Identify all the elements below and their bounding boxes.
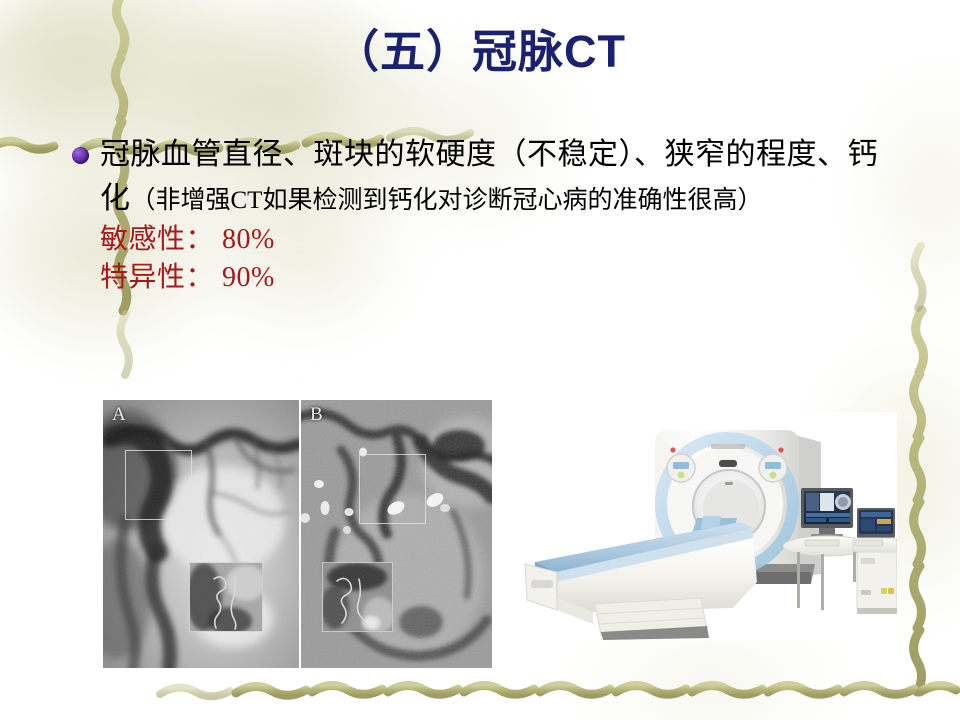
figure-panel-b: B xyxy=(301,400,492,668)
body-content: 冠脉血管直径、斑块的软硬度（不稳定）、狭窄的程度、钙化（非增强CT如果检测到钙化… xyxy=(72,133,892,298)
stat-specificity-label: 特异性： xyxy=(100,262,214,293)
stat-specificity: 特异性：90% xyxy=(100,259,892,298)
magnified-inset-b xyxy=(322,562,393,632)
roi-box-a xyxy=(125,450,192,520)
panel-label-a: A xyxy=(112,404,126,426)
stat-sensitivity: 敏感性：80% xyxy=(100,221,892,260)
figure-ct-scanner xyxy=(505,412,897,640)
bullet-paragraph: 冠脉血管直径、斑块的软硬度（不稳定）、狭窄的程度、钙化（非增强CT如果检测到钙化… xyxy=(100,133,892,221)
slide-title: （五）冠脉CT xyxy=(0,26,960,78)
bullet-sphere-icon xyxy=(72,147,89,164)
stat-sensitivity-value: 80% xyxy=(222,224,275,255)
magnified-inset-a xyxy=(189,562,263,632)
figure-panel-a: A xyxy=(103,400,299,668)
bullet-paragraph-note: （非增强CT如果检测到钙化对诊断冠心病的准确性很高） xyxy=(131,187,763,214)
figure-medical-comparison: A xyxy=(103,400,492,668)
bullet-item: 冠脉血管直径、斑块的软硬度（不稳定）、狭窄的程度、钙化（非增强CT如果检测到钙化… xyxy=(72,133,892,221)
slide-canvas: （五）冠脉CT 冠脉血管直径、斑块的软硬度（不稳定）、狭窄的程度、钙化（非增强C… xyxy=(0,0,960,720)
roi-box-b xyxy=(359,454,426,524)
stat-specificity-value: 90% xyxy=(222,262,275,293)
panel-label-b: B xyxy=(310,404,323,426)
stat-sensitivity-label: 敏感性： xyxy=(100,224,214,255)
